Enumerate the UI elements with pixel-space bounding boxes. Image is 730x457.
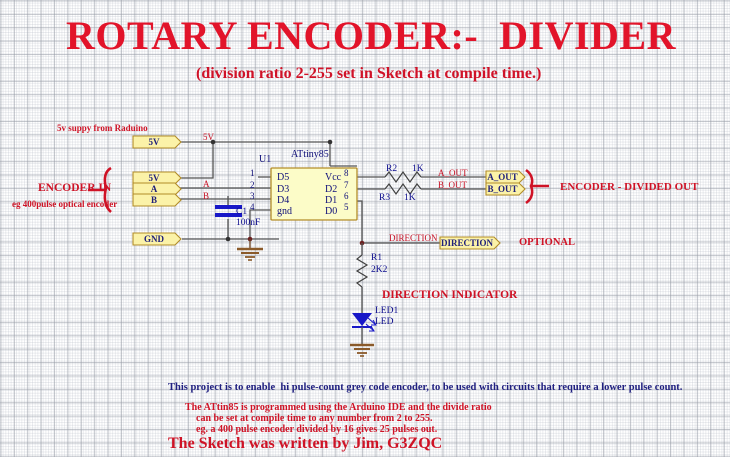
flag-label-5v-encoder: 5V xyxy=(133,174,175,183)
ic-pin-number-7: 7 xyxy=(344,181,349,190)
capacitor-c1-designator: C1 xyxy=(236,208,247,218)
annotation-encoder-out: ENCODER - DIVIDED OUT xyxy=(560,182,698,193)
flag-label-direction: DIRECTION xyxy=(440,239,494,248)
ic-part-number: ATtiny85 xyxy=(291,150,329,160)
page-title: ROTARY ENCODER:- DIVIDER xyxy=(66,16,676,56)
ic-designator: U1 xyxy=(259,155,271,165)
annotation-encoder-in: ENCODER IN xyxy=(38,183,111,195)
resistor-r1-value: 2K2 xyxy=(371,266,387,276)
ic-pin-name-d4: D4 xyxy=(277,196,289,206)
annotation-supply-note: 5v suppy from Raduino xyxy=(57,124,148,133)
led-led1-designator: LED1 xyxy=(375,307,398,317)
annotation-encoder-in-detail: eg 400pulse optical encoder xyxy=(12,200,117,209)
ic-pin-name-d0: D0 xyxy=(325,207,337,217)
ic-pin-number-6: 6 xyxy=(344,192,349,201)
wire-5v-to-encoder-flag xyxy=(180,142,213,178)
note-line-2: The ATtin85 is programmed using the Ardu… xyxy=(185,403,492,413)
flag-label-b-out: B_OUT xyxy=(486,185,519,194)
resistor-r3-value: 1K xyxy=(404,194,416,204)
flag-label-a-in: A xyxy=(133,185,175,194)
resistor-r2-value: 1K xyxy=(412,165,424,175)
resistor-r1-symbol xyxy=(357,255,367,287)
flag-label-a-out: A_OUT xyxy=(486,173,519,182)
ic-pin-name-d1: D1 xyxy=(325,196,337,206)
ground-symbol-main xyxy=(237,239,263,260)
note-line-3: can be set at compile time to any number… xyxy=(196,414,433,424)
note-credit: The Sketch was written by Jim, G3ZQC xyxy=(168,436,442,452)
ic-pin-number-2: 2 xyxy=(250,181,255,190)
ic-pin-number-5: 5 xyxy=(344,203,349,212)
net-label-b-out: B_OUT xyxy=(438,181,467,190)
ic-pin-name-gnd: gnd xyxy=(277,207,292,217)
annotation-direction-indicator: DIRECTION INDICATOR xyxy=(382,290,517,302)
net-label-b-in: B xyxy=(203,192,209,201)
flag-label-gnd: GND xyxy=(133,235,175,244)
wire-pin5-to-direction xyxy=(357,201,362,243)
ic-pin-number-1: 1 xyxy=(250,169,255,178)
resistor-r1-designator: R1 xyxy=(371,254,382,264)
net-label-a-out: A_OUT xyxy=(438,169,468,178)
net-label-5v: 5V xyxy=(203,133,214,142)
ic-pin-name-d2: D2 xyxy=(325,185,337,195)
resistor-r3-designator: R3 xyxy=(379,194,390,204)
ground-symbol-led xyxy=(350,345,374,356)
junction-dot-vcc-branch xyxy=(328,140,333,145)
ic-pin-name-d5: D5 xyxy=(277,173,289,183)
ic-pin-name-d3: D3 xyxy=(277,185,289,195)
led-led1-value: LED xyxy=(375,318,393,328)
flag-label-5v-supply: 5V xyxy=(133,138,175,147)
ic-pin-number-3: 3 xyxy=(250,192,255,201)
led-symbol xyxy=(352,313,376,331)
net-label-direction: DIRECTION xyxy=(389,234,438,243)
net-label-a-in: A xyxy=(203,180,210,189)
ic-pin-number-4: 4 xyxy=(250,203,255,212)
junction-dot-c1-gnd xyxy=(226,237,231,242)
capacitor-c1-value: 100nF xyxy=(236,219,260,229)
resistor-r2-designator: R2 xyxy=(386,165,397,175)
ic-pin-name-vcc: Vcc xyxy=(325,173,341,183)
note-line-1: This project is to enable hi pulse-count… xyxy=(168,383,682,394)
flag-label-b-in: B xyxy=(133,196,175,205)
page-subtitle: (division ratio 2-255 set in Sketch at c… xyxy=(196,66,541,82)
annotation-optional: OPTIONAL xyxy=(519,238,575,249)
schematic-page: ROTARY ENCODER:- DIVIDER (division ratio… xyxy=(0,0,730,457)
ic-pin-number-8: 8 xyxy=(344,169,349,178)
note-line-4: eg. a 400 pulse encoder divided by 16 gi… xyxy=(196,425,437,435)
